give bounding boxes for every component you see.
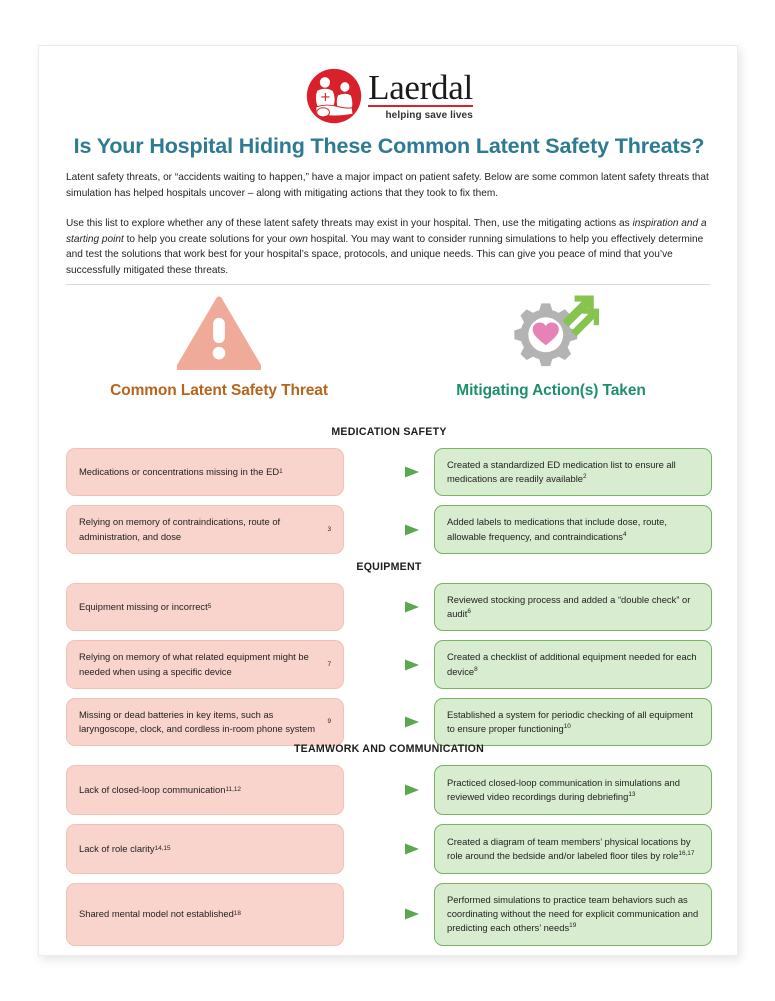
column-header-action-label: Mitigating Action(s) Taken [456,382,645,400]
laerdal-wordmark: Laerdal helping save lives [368,71,473,122]
flow-arrow-icon [344,765,434,815]
column-header-threat: Common Latent Safety Threat [74,294,364,414]
intro-paragraph-2: Use this list to explore whether any of … [66,216,710,278]
section-title: EQUIPMENT [66,561,712,573]
action-cell: Created a diagram of team members’ physi… [434,824,712,874]
flow-arrow-icon [344,505,434,553]
threat-cell: Relying on memory of contraindications, … [66,505,344,553]
flow-arrow-icon [344,824,434,874]
intro-p2-text-2: to help you create solutions for your [124,234,290,245]
citation-superscript: 2 [583,473,587,480]
action-cell: Practiced closed-loop communication in s… [434,765,712,815]
threat-text: Shared mental model not established [79,907,234,921]
threat-cell: Relying on memory of what related equipm… [66,640,344,688]
threat-cell: Missing or dead batteries in key items, … [66,698,344,746]
threat-text: Lack of closed-loop communication [79,783,225,797]
citation-superscript: 16,17 [678,850,694,857]
threat-action-row: Missing or dead batteries in key items, … [66,698,712,746]
column-header-threat-label: Common Latent Safety Threat [110,382,328,400]
threat-action-row: Lack of closed-loop communication11,12Pr… [66,765,712,815]
threat-text: Missing or dead batteries in key items, … [79,708,327,736]
laerdal-logo: Laerdal helping save lives [66,60,712,132]
section-teamwork-and-communication: TEAMWORK AND COMMUNICATIONLack of closed… [66,743,712,955]
action-cell: Reviewed stocking process and added a “d… [434,583,712,631]
action-text: Practiced closed-loop communication in s… [447,777,680,802]
intro-paragraph-1: Latent safety threats, or “accidents wai… [66,170,710,201]
section-equipment: EQUIPMENTEquipment missing or incorrect5… [66,561,712,755]
citation-superscript: 4 [623,530,627,537]
citation-superscript: 8 [474,665,478,672]
section-title: TEAMWORK AND COMMUNICATION [66,743,712,755]
threat-action-row: Relying on memory of what related equipm… [66,640,712,688]
intro-p2-italic-2: own [289,234,308,245]
action-cell: Created a standardized ED medication lis… [434,448,712,496]
action-cell: Added labels to medications that include… [434,505,712,553]
threat-text: Relying on memory of contraindications, … [79,515,327,543]
logo-underline [368,105,473,107]
threat-action-row: Shared mental model not established18Per… [66,883,712,946]
header-divider [66,284,710,285]
threat-text: Relying on memory of what related equipm… [79,650,327,678]
citation-superscript: 19 [569,922,576,929]
threat-cell: Lack of closed-loop communication11,12 [66,765,344,815]
citation-superscript: 6 [467,608,471,615]
flow-arrow-icon [344,640,434,688]
section-medication-safety: MEDICATION SAFETYMedications or concentr… [66,426,712,563]
flow-arrow-icon [344,448,434,496]
gear-heart-arrows-icon [503,294,599,372]
warning-triangle-icon [177,294,261,372]
page-content: Laerdal helping save lives Is Your Hospi… [66,46,712,956]
document-page: Laerdal helping save lives Is Your Hospi… [38,45,738,956]
action-text: Established a system for periodic checki… [447,709,693,734]
threat-cell: Shared mental model not established18 [66,883,344,946]
citation-superscript: 10 [564,723,571,730]
action-text: Created a checklist of additional equipm… [447,651,697,676]
section-title: MEDICATION SAFETY [66,426,712,438]
flow-arrow-icon [344,583,434,631]
flow-arrow-icon [344,698,434,746]
flow-arrow-icon [344,883,434,946]
action-text: Reviewed stocking process and added a “d… [447,594,690,619]
threat-text: Lack of role clarity [79,842,155,856]
logo-tagline: helping save lives [385,110,472,121]
action-cell: Performed simulations to practice team b… [434,883,712,946]
action-cell: Established a system for periodic checki… [434,698,712,746]
threat-action-row: Relying on memory of contraindications, … [66,505,712,553]
action-text: Created a standardized ED medication lis… [447,459,676,484]
action-text: Created a diagram of team members’ physi… [447,836,691,861]
threat-text: Medications or concentrations missing in… [79,465,279,479]
action-cell: Created a checklist of additional equipm… [434,640,712,688]
threat-action-row: Medications or concentrations missing in… [66,448,712,496]
threat-action-row: Lack of role clarity14,15Created a diagr… [66,824,712,874]
threat-cell: Medications or concentrations missing in… [66,448,344,496]
threat-cell: Equipment missing or incorrect5 [66,583,344,631]
citation-superscript: 13 [628,791,635,798]
action-text: Added labels to medications that include… [447,516,667,541]
threat-text: Equipment missing or incorrect [79,600,208,614]
threat-cell: Lack of role clarity14,15 [66,824,344,874]
logo-wordmark-text: Laerdal [368,71,473,105]
threat-action-row: Equipment missing or incorrect5Reviewed … [66,583,712,631]
intro-p2-text-1: Use this list to explore whether any of … [66,218,632,229]
page-title: Is Your Hospital Hiding These Common Lat… [66,134,712,159]
column-header-action: Mitigating Action(s) Taken [406,294,696,414]
laerdal-rescuers-circle-logo-icon [305,67,363,125]
